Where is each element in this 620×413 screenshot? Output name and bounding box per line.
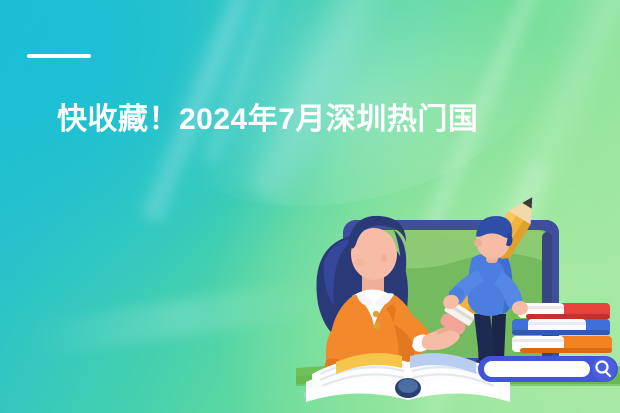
promo-banner: 快收藏！2024年7月深圳热门国	[0, 0, 620, 413]
banner-headline: 快收藏！2024年7月深圳热门国	[57, 101, 620, 139]
online-education-illustration	[296, 196, 620, 413]
search-input	[484, 361, 590, 377]
search-bar	[478, 356, 618, 382]
accent-dash	[27, 54, 91, 58]
search-button	[592, 357, 616, 381]
